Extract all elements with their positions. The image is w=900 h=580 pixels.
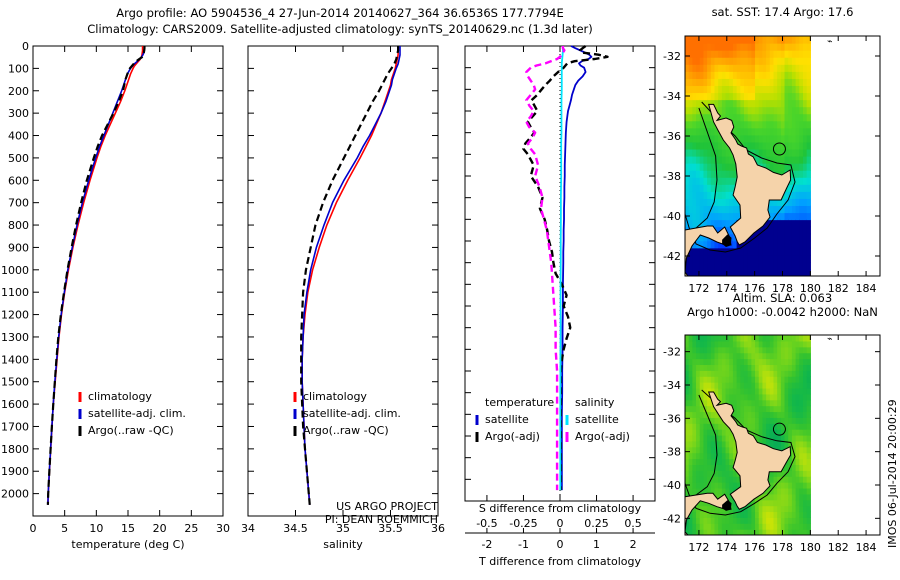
map-title-line: Argo h1000: -0.0042 h2000: NaN <box>687 305 878 319</box>
svg-text:30: 30 <box>216 522 230 535</box>
map-lat-tick-label: -38 <box>663 446 681 459</box>
map-lat-tick-label: -34 <box>663 379 681 392</box>
map-lat-tick-label: -40 <box>663 479 681 492</box>
svg-text:800: 800 <box>8 219 29 232</box>
salinity-legend: climatologysatellite-adj. clim.Argo(..ra… <box>295 390 401 437</box>
t-axis-tick-label: 0 <box>557 538 564 551</box>
map-title: Altim. SLA: 0.063Argo h1000: -0.0042 h20… <box>687 291 878 319</box>
svg-text:5: 5 <box>61 522 68 535</box>
map-lat-tick-label: -40 <box>663 210 681 223</box>
x-axis-label: temperature (deg C) <box>71 538 184 551</box>
map-title-line: sat. SST: 17.4 Argo: 17.6 <box>712 5 854 19</box>
svg-text:300: 300 <box>8 107 29 120</box>
map-lat-tick-label: -34 <box>663 90 681 103</box>
svg-text:1000: 1000 <box>1 264 29 277</box>
series-line <box>526 46 564 490</box>
svg-text:10: 10 <box>89 522 103 535</box>
svg-text:1300: 1300 <box>1 331 29 344</box>
svg-text:500: 500 <box>8 152 29 165</box>
svg-text:0: 0 <box>22 40 29 53</box>
svg-text:34.5: 34.5 <box>283 522 308 535</box>
temperature-profile-panel[interactable]: 0100200300400500600700800900100011001200… <box>0 0 240 580</box>
map-lon-tick-label: 172 <box>688 541 709 554</box>
map-lon-tick-label: 174 <box>716 541 737 554</box>
legend-label: climatology <box>303 390 367 403</box>
legend-label: Argo(..raw -QC) <box>88 424 174 437</box>
svg-text:1900: 1900 <box>1 465 29 478</box>
difference-legend: temperaturesatelliteArgo(-adj)salinitysa… <box>477 396 630 443</box>
svg-text:200: 200 <box>8 85 29 98</box>
svg-text:400: 400 <box>8 130 29 143</box>
legend-label: climatology <box>88 390 152 403</box>
map-lat-tick-label: -42 <box>663 250 681 263</box>
difference-profile-panel[interactable]: temperaturesatelliteArgo(-adj)salinitysa… <box>455 0 675 580</box>
svg-text:2000: 2000 <box>1 488 29 501</box>
legend-heading: salinity <box>575 396 615 409</box>
sst-map-panel[interactable]: sat. SST: 17.4 Argo: 17.6⌁17217417617818… <box>655 0 900 300</box>
legend-label: satellite <box>485 413 529 426</box>
s-axis-label: S difference from climatology <box>479 502 642 515</box>
svg-text:100: 100 <box>8 62 29 75</box>
svg-text:1100: 1100 <box>1 286 29 299</box>
svg-text:1600: 1600 <box>1 398 29 411</box>
map-lon-tick-label: 182 <box>828 541 849 554</box>
project-credit: US ARGO PROJECTPI: DEAN ROEMMICH <box>325 500 438 526</box>
legend-heading: temperature <box>485 396 554 409</box>
map-lat-tick-label: -36 <box>663 412 681 425</box>
svg-text:1800: 1800 <box>1 443 29 456</box>
imos-timestamp: IMOS 06-Jul-2014 20:00:29 <box>872 380 890 550</box>
plot-axes: 0100200300400500600700800900100011001200… <box>1 40 230 551</box>
map-lat-tick-label: -42 <box>663 512 681 525</box>
svg-text:15: 15 <box>121 522 135 535</box>
svg-text:20: 20 <box>153 522 167 535</box>
sla-map-panel[interactable]: Altim. SLA: 0.063Argo h1000: -0.0042 h20… <box>655 288 900 573</box>
svg-text:0: 0 <box>30 522 37 535</box>
svg-text:1500: 1500 <box>1 376 29 389</box>
svg-text:1400: 1400 <box>1 353 29 366</box>
t-axis-tick-label: -2 <box>481 538 492 551</box>
dual-axis-labels: S difference from climatology-0.5-0.2500… <box>465 502 655 568</box>
map-corner-glyph: ⌁ <box>827 335 832 345</box>
map-lat-tick-label: -32 <box>663 50 681 63</box>
svg-text:600: 600 <box>8 174 29 187</box>
map-lon-tick-label: 176 <box>744 541 765 554</box>
t-axis-tick-label: 1 <box>593 538 600 551</box>
svg-text:1200: 1200 <box>1 309 29 322</box>
map-lon-tick-label: 178 <box>772 541 793 554</box>
map-lat-tick-label: -36 <box>663 130 681 143</box>
svg-text:34: 34 <box>241 522 255 535</box>
t-axis-tick-label: 2 <box>630 538 637 551</box>
svg-text:900: 900 <box>8 241 29 254</box>
legend-label: satellite <box>575 413 619 426</box>
plot-axes: 3434.53535.536salinity <box>241 46 445 551</box>
map-lat-tick-label: -32 <box>663 346 681 359</box>
legend-label: satellite-adj. clim. <box>88 407 186 420</box>
imos-timestamp-text: IMOS 06-Jul-2014 20:00:29 <box>886 399 899 548</box>
figure-canvas: Argo profile: AO 5904536_4 27-Jun-2014 2… <box>0 0 900 580</box>
temperature-legend: climatologysatellite-adj. clim.Argo(..ra… <box>80 390 186 437</box>
x-axis-label: salinity <box>323 538 363 551</box>
legend-label: Argo(-adj) <box>575 430 630 443</box>
map-lon-tick-label: 180 <box>800 541 821 554</box>
t-axis-tick-label: -1 <box>518 538 529 551</box>
map-corner-glyph: ⌁ <box>827 37 832 47</box>
salinity-profile-panel[interactable]: 3434.53535.536salinityclimatologysatelli… <box>238 0 478 580</box>
t-axis-label: T difference from climatology <box>478 555 641 568</box>
svg-text:700: 700 <box>8 197 29 210</box>
legend-label: Argo(..raw -QC) <box>303 424 389 437</box>
svg-text:1700: 1700 <box>1 420 29 433</box>
map-lat-tick-label: -38 <box>663 170 681 183</box>
map-title: sat. SST: 17.4 Argo: 17.6 <box>712 5 854 19</box>
legend-label: satellite-adj. clim. <box>303 407 401 420</box>
credit-line-1: US ARGO PROJECT <box>336 500 438 513</box>
credit-line-2: PI: DEAN ROEMMICH <box>325 513 438 526</box>
legend-label: Argo(-adj) <box>485 430 540 443</box>
map-title-line: Altim. SLA: 0.063 <box>733 291 832 305</box>
svg-text:25: 25 <box>184 522 198 535</box>
